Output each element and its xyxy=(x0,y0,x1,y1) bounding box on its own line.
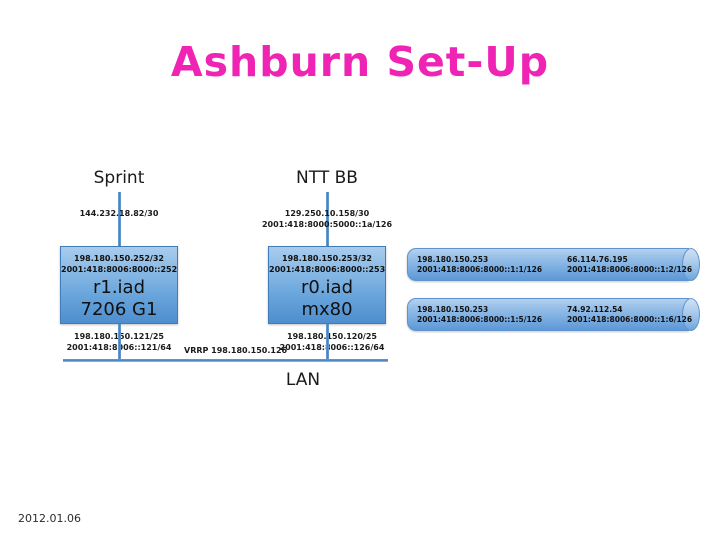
uplink-address-sprint-v4: 144.232.18.82/30 xyxy=(80,209,159,218)
router-r1-iad-hostname: r1.iad xyxy=(93,277,145,298)
page-title: Ashburn Set-Up xyxy=(0,38,720,86)
lan-drop-line-r0-iad xyxy=(326,324,329,360)
router-r0-iad-model: mx80 xyxy=(301,299,352,320)
link-1-right-v6: 2001:418:8006:8000::1:2/126 xyxy=(567,265,692,274)
router-r1-iad-loopback-v4: 198.180.150.252/32 xyxy=(74,254,164,263)
link-2-right-v4: 74.92.112.54 xyxy=(567,305,623,314)
provider-label-ntt: NTT BB xyxy=(267,168,387,188)
link-1-right-endpoint: 66.114.76.195 2001:418:8006:8000::1:2/12… xyxy=(567,255,692,275)
link-2-right-v6: 2001:418:8006:8000::1:6/126 xyxy=(567,315,692,324)
link-1-left-endpoint: 198.180.150.253 2001:418:8006:8000::1:1/… xyxy=(417,255,542,275)
router-r0-iad-name: r0.iad mx80 xyxy=(269,277,385,321)
router-r0-iad-loopback-v4: 198.180.150.253/32 xyxy=(282,254,372,263)
link-cylinder-2[interactable]: 198.180.150.253 2001:418:8006:8000::1:5/… xyxy=(407,298,699,331)
date-stamp: 2012.01.06 xyxy=(18,512,81,525)
link-1-left-v6: 2001:418:8006:8000::1:1/126 xyxy=(417,265,542,274)
router-r1-iad-model: 7206 G1 xyxy=(81,299,158,320)
uplink-address-ntt: 129.250.10.158/30 2001:418:8000:5000::1a… xyxy=(247,208,407,230)
slide-canvas: Ashburn Set-Up Sprint 144.232.18.82/30 1… xyxy=(0,0,720,540)
router-r0-iad-loopback-v6: 2001:418:8006:8000::253/128 xyxy=(269,265,386,274)
lan-label: LAN xyxy=(243,370,363,390)
lan-drop-line-r1-iad xyxy=(118,324,121,360)
link-2-left-endpoint: 198.180.150.253 2001:418:8006:8000::1:5/… xyxy=(417,305,542,325)
router-r0-iad-hostname: r0.iad xyxy=(301,277,353,298)
provider-label-sprint: Sprint xyxy=(59,168,179,188)
link-2-right-endpoint: 74.92.112.54 2001:418:8006:8000::1:6/126 xyxy=(567,305,692,325)
router-r1-iad-loopback: 198.180.150.252/32 2001:418:8006:8000::2… xyxy=(61,253,177,275)
link-1-left-v4: 198.180.150.253 xyxy=(417,255,488,264)
router-r1-iad-name: r1.iad 7206 G1 xyxy=(61,277,177,321)
vrrp-label: VRRP 198.180.150.126 xyxy=(184,346,287,355)
router-r0-iad-loopback: 198.180.150.253/32 2001:418:8006:8000::2… xyxy=(269,253,385,275)
uplink-line-sprint xyxy=(118,192,121,248)
uplink-address-ntt-v4: 129.250.10.158/30 xyxy=(285,209,369,218)
lan-address-r0-iad-v4: 198.180.150.120/25 xyxy=(287,332,377,341)
link-2-left-v6: 2001:418:8006:8000::1:5/126 xyxy=(417,315,542,324)
link-2-left-v4: 198.180.150.253 xyxy=(417,305,488,314)
link-cylinder-1[interactable]: 198.180.150.253 2001:418:8006:8000::1:1/… xyxy=(407,248,699,281)
router-r1-iad-loopback-v6: 2001:418:8006:8000::252/128 xyxy=(61,265,178,274)
uplink-address-ntt-v6: 2001:418:8000:5000::1a/126 xyxy=(247,219,407,230)
uplink-address-sprint: 144.232.18.82/30 xyxy=(39,208,199,219)
router-box-r0-iad[interactable]: 198.180.150.253/32 2001:418:8006:8000::2… xyxy=(268,246,386,324)
router-box-r1-iad[interactable]: 198.180.150.252/32 2001:418:8006:8000::2… xyxy=(60,246,178,324)
lan-bus-line xyxy=(63,359,388,362)
link-1-right-v4: 66.114.76.195 xyxy=(567,255,628,264)
